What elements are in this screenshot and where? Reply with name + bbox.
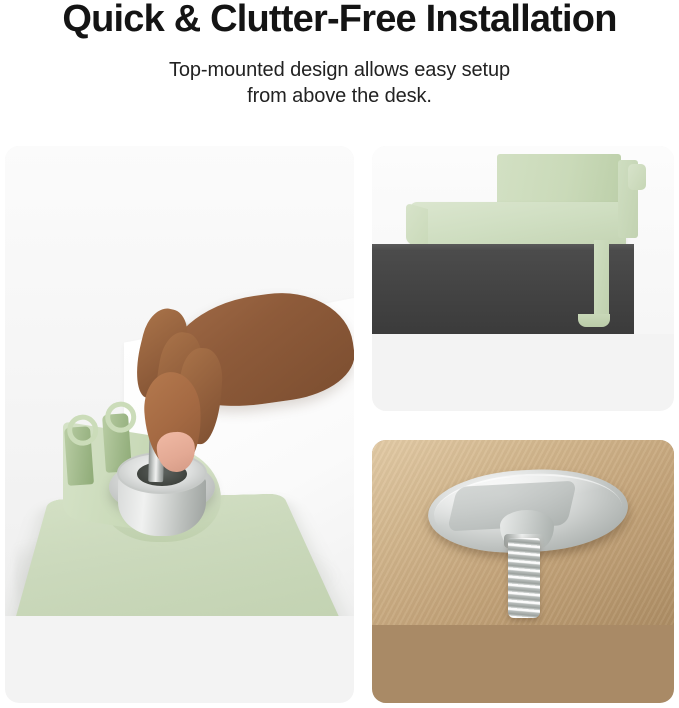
panel-top-mounted: Top-Mounted <box>5 146 354 703</box>
clamp-jaw-foot <box>578 314 610 327</box>
clamp-knob <box>628 164 646 190</box>
photo-grommet-mount <box>372 440 674 625</box>
page-title: Quick & Clutter-Free Installation <box>0 0 679 41</box>
infographic-page: Quick & Clutter-Free Installation Top-mo… <box>0 0 679 708</box>
hand-illustration <box>105 286 354 486</box>
photo-clamp-mount <box>372 146 674 334</box>
page-subtitle: Top-mounted design allows easy setup fro… <box>0 57 679 109</box>
cable-clip-icon <box>64 426 94 486</box>
panel-clamp: Clamp Desk thickness 0.39” ~ 1.97” <box>372 146 674 411</box>
thumb-nail <box>156 431 196 473</box>
panel-grommet: Grommet Desk thickness 0.39” ~ 1.77” <box>372 440 674 703</box>
subtitle-line-1: Top-mounted design allows easy setup <box>0 57 679 83</box>
subtitle-line-2: from above the desk. <box>0 83 679 109</box>
grommet-threaded-bolt <box>508 538 540 618</box>
photo-top-mounted-installation <box>5 146 354 616</box>
